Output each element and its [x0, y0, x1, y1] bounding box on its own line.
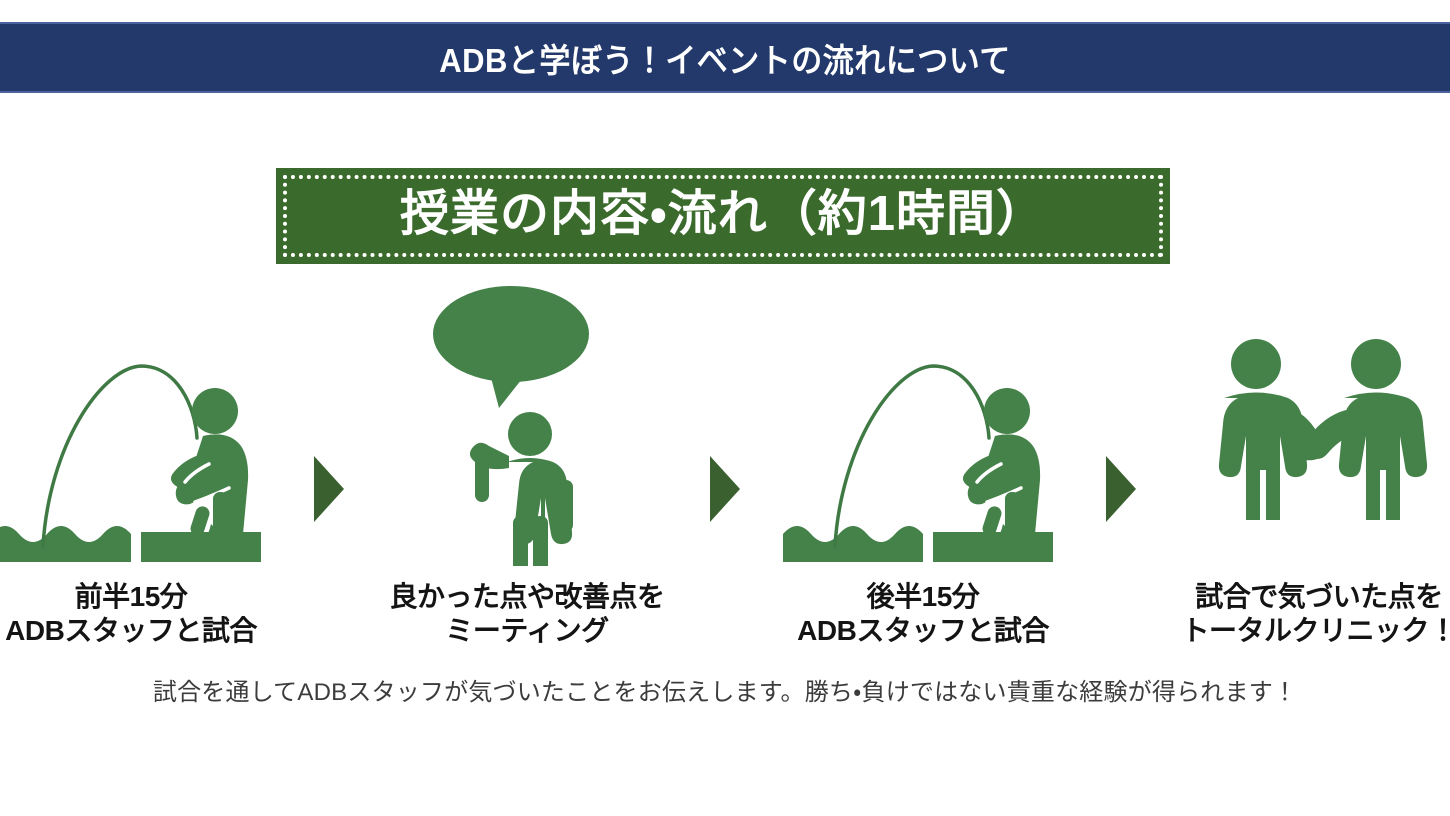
fishing-person-icon	[753, 276, 1093, 566]
flow-step-2: 良かった点や改善点を ミーティング	[357, 276, 697, 648]
flow-arrow-1	[301, 276, 357, 566]
flow-step-2-line2: ミーティング	[389, 614, 664, 648]
speech-bubble-shape	[433, 286, 589, 382]
triangle-right-icon	[312, 454, 346, 524]
triangle-right-icon	[1104, 454, 1138, 524]
flow-step-1-caption: 前半15分 ADBスタッフと試合	[5, 580, 257, 648]
fishing-person-icon	[0, 276, 301, 566]
flow-step-3: 後半15分 ADBスタッフと試合	[753, 276, 1093, 648]
handshake-two-people-icon	[1149, 276, 1450, 566]
flow-step-3-line2: ADBスタッフと試合	[797, 614, 1049, 648]
flow-step-3-line1: 後半15分	[867, 581, 980, 612]
section-title-text: 授業の内容・流れ（約1時間）	[400, 190, 1046, 239]
flow-step-1-line1: 前半15分	[75, 581, 188, 612]
flow-step-3-caption: 後半15分 ADBスタッフと試合	[797, 580, 1049, 648]
page-title: ADBと学ぼう！イベントの流れについて	[439, 34, 1011, 82]
flow-arrow-2	[697, 276, 753, 566]
flow-steps-row: 前半15分 ADBスタッフと試合	[0, 276, 1450, 666]
person-speech-bubble-icon	[357, 276, 697, 566]
section-title-box: 授業の内容・流れ（約1時間）	[276, 168, 1170, 264]
flow-arrow-3	[1093, 276, 1149, 566]
flow-step-2-caption: 良かった点や改善点を ミーティング	[389, 580, 664, 648]
flow-step-4-line2: トータルクリニック！	[1181, 614, 1450, 648]
flow-step-4-line1: 試合で気づいた点を	[1195, 581, 1443, 612]
flow-step-4: 試合で気づいた点を トータルクリニック！	[1149, 276, 1450, 648]
flow-step-1-line2: ADBスタッフと試合	[5, 614, 257, 648]
section-title-dotted-frame: 授業の内容・流れ（約1時間）	[283, 175, 1163, 257]
header-banner: ADBと学ぼう！イベントの流れについて	[0, 22, 1450, 93]
footer-note: 試合を通してADBスタッフが気づいたことをお伝えします。勝ち・負けではない貴重な…	[0, 672, 1450, 707]
flow-step-1: 前半15分 ADBスタッフと試合	[0, 276, 301, 648]
flow-step-2-line1: 良かった点や改善点を	[389, 581, 664, 612]
flow-step-4-caption: 試合で気づいた点を トータルクリニック！	[1181, 580, 1450, 648]
triangle-right-icon	[708, 454, 742, 524]
